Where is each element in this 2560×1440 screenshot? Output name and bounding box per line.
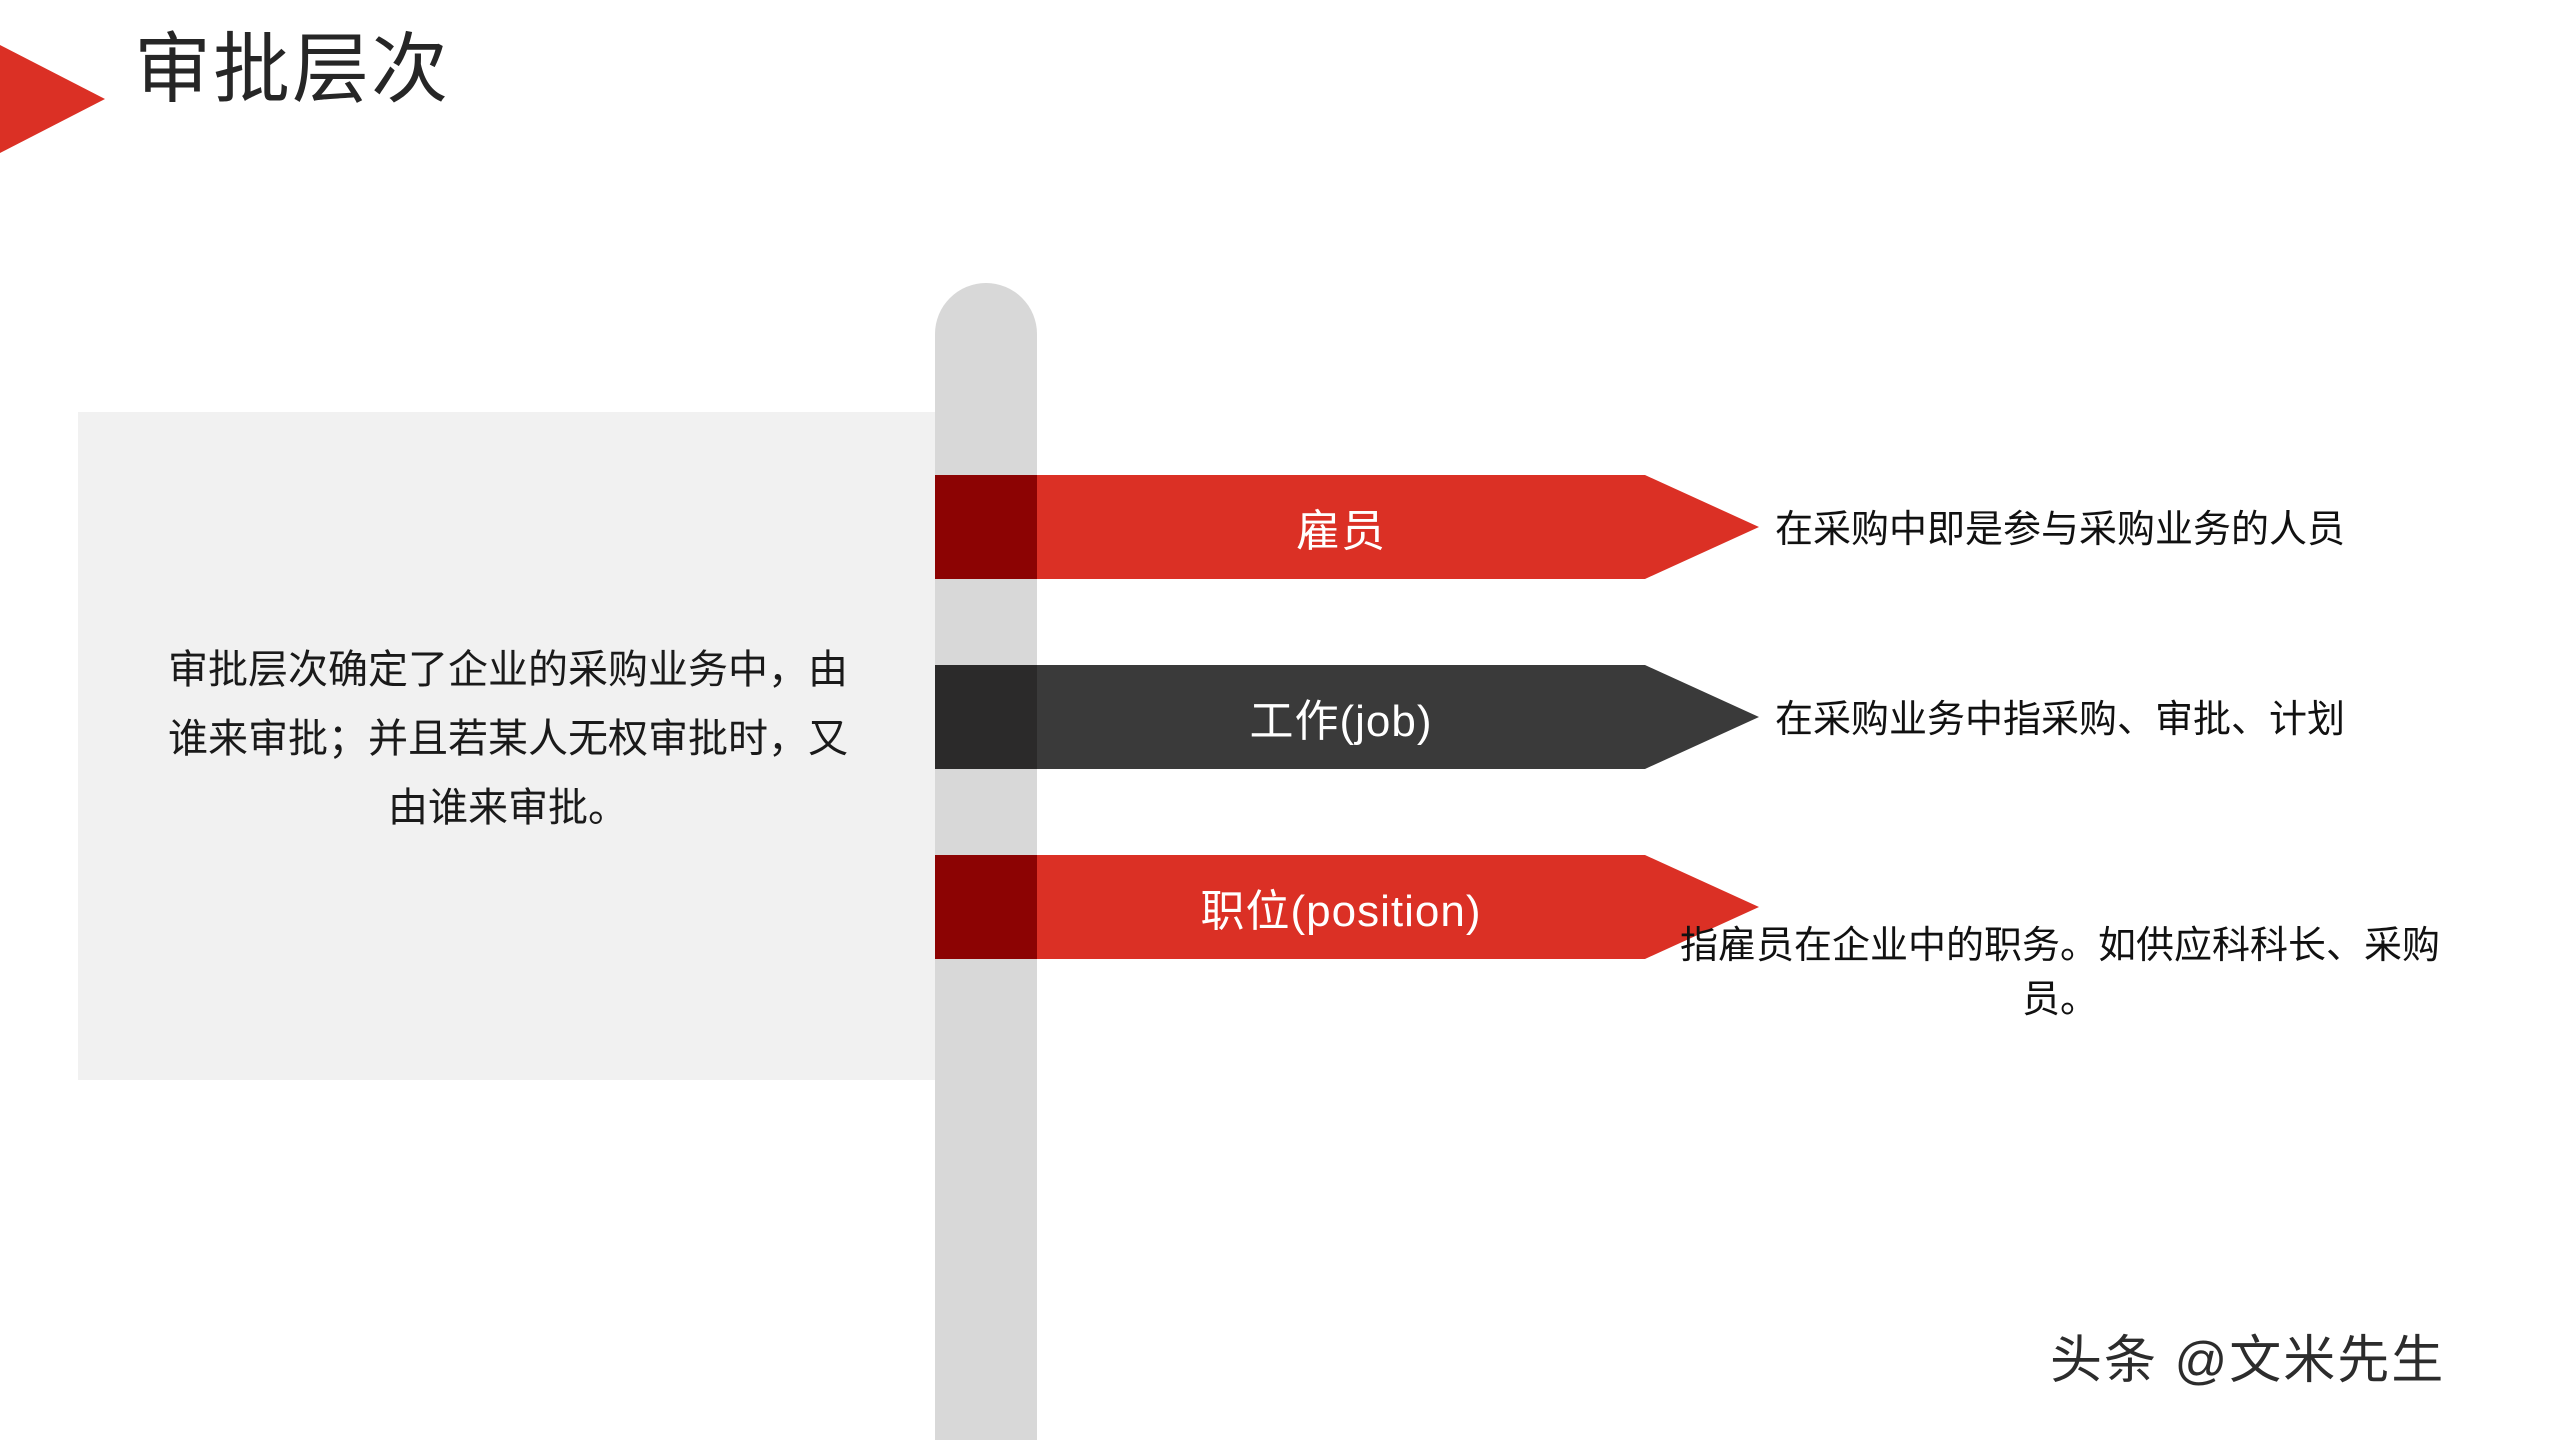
title-triangle-marker-icon xyxy=(0,45,105,153)
banner-label: 雇员 xyxy=(1037,475,1645,579)
banner-label: 职位(position) xyxy=(1037,855,1645,959)
banner-cap xyxy=(935,855,1037,959)
left-description-text: 审批层次确定了企业的采购业务中，由谁来审批；并且若某人无权审批时，又由谁来审批。 xyxy=(168,636,848,842)
banner-label: 工作(job) xyxy=(1037,665,1645,769)
banner-cap xyxy=(935,665,1037,769)
banner-description-position: 指雇员在企业中的职务。如供应科科长、采购员。 xyxy=(1680,920,2440,1028)
page-title: 审批层次 xyxy=(134,32,450,109)
banner-description-job: 在采购业务中指采购、审批、计划 xyxy=(1680,694,2440,748)
banner-cap xyxy=(935,475,1037,579)
banner-row-position[interactable]: 职位(position) xyxy=(935,855,1759,959)
watermark-credit: 头条 @文米先生 xyxy=(2050,1318,2445,1393)
banner-row-job[interactable]: 工作(job) xyxy=(935,665,1759,769)
banner-description-employee: 在采购中即是参与采购业务的人员 xyxy=(1680,504,2440,558)
banner-row-employee[interactable]: 雇员 xyxy=(935,475,1759,579)
